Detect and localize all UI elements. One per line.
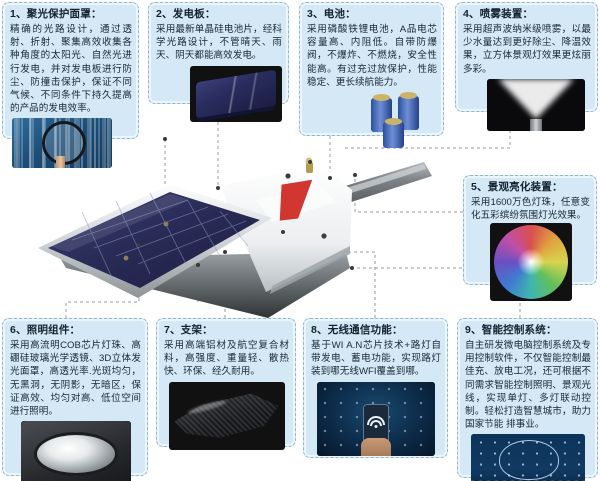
callout-dot-8 bbox=[281, 230, 285, 234]
callout-3-title: 3、电池： bbox=[307, 8, 437, 21]
callout-1-body: 精确的光路设计，通过透射、折射、聚集高效收集各种角度的太阳光、自然光进行发电，并… bbox=[10, 23, 132, 115]
callout-2-body: 采用最新单晶硅电池片，经科学光路设计，不管晴天、雨天、阴天都能高效发电。 bbox=[156, 23, 282, 63]
callout-4-body: 采用超声波纳米级喷雾，以最少水量达到更好除尘、降温效果，立方体景观灯效果更炫丽多… bbox=[463, 23, 591, 76]
callout-1-title: 1、聚光保护面罩： bbox=[10, 8, 132, 21]
callout-panel-7[interactable]: 7、支架： 采用高端铝材及航空复合材料，高强度、重量轻、散热快、环保、经久耐用。 bbox=[156, 318, 296, 447]
callout-dot-1 bbox=[163, 137, 167, 141]
callout-7-title: 7、支架： bbox=[164, 324, 289, 337]
callout-panel-1[interactable]: 1、聚光保护面罩： 精确的光路设计，通过透射、折射、聚集高效收集各种角度的太阳光… bbox=[2, 2, 139, 139]
callout-dot-6 bbox=[137, 243, 141, 247]
callout-panel-3[interactable]: 3、电池： 采用磷酸铁锂电池，A品电芯容量高、内阻低。自带防爆阀，不爆炸、不燃烧… bbox=[299, 2, 444, 136]
cob-led-module-image bbox=[21, 421, 131, 481]
lithium-battery-cells-image bbox=[367, 92, 429, 150]
callout-9-title: 9、智能控制系统： bbox=[465, 324, 591, 337]
callout-8-title: 8、无线通信功能： bbox=[311, 324, 441, 337]
callout-3-body: 采用磷酸铁锂电池，A品电芯容量高、内阻低。自带防爆阀，不爆炸、不燃烧，安全性能高… bbox=[307, 23, 437, 89]
magnifier-over-data-image bbox=[12, 118, 112, 168]
callout-panel-4[interactable]: 4、喷雾装置： 采用超声波纳米级喷雾，以最少水量达到更好除尘、降温效果，立方体景… bbox=[455, 2, 598, 112]
carbon-fiber-bracket-image bbox=[169, 382, 285, 450]
callout-5-title: 5、景观亮化装置： bbox=[471, 181, 590, 194]
solar-cell-image bbox=[190, 66, 282, 122]
infographic-canvas: 1、聚光保护面罩： 精确的光路设计，通过透射、折射、聚集高效收集各种角度的太阳光… bbox=[0, 0, 600, 481]
smart-city-brain-network-image bbox=[471, 434, 585, 481]
callout-dot-9 bbox=[196, 263, 200, 267]
mist-spray-nozzle-image bbox=[487, 79, 585, 131]
callout-4-title: 4、喷雾装置： bbox=[463, 8, 591, 21]
callout-panel-5[interactable]: 5、景观亮化装置： 采用1600万色灯珠，任意变化五彩缤纷氛围灯光效果。 bbox=[463, 175, 597, 285]
callout-panel-9[interactable]: 9、智能控制系统： 自主研发微电脑控制系统及专用控制软件，不仅智能控制最佳充、放… bbox=[457, 318, 598, 478]
callout-5-body: 采用1600万色灯珠，任意变化五彩缤纷氛围灯光效果。 bbox=[471, 196, 590, 222]
callout-panel-2[interactable]: 2、发电板： 采用最新单晶硅电池片，经科学光路设计，不管晴天、雨天、阴天都能高效… bbox=[148, 2, 289, 104]
callout-dot-3 bbox=[328, 176, 332, 180]
callout-7-body: 采用高端铝材及航空复合材料，高强度、重量轻、散热快、环保、经久耐用。 bbox=[164, 339, 289, 379]
callout-9-body: 自主研发微电脑控制系统及专用控制软件，不仅智能控制最佳充、放电工况，还可根据不同… bbox=[465, 339, 591, 431]
callout-dot-10 bbox=[350, 266, 354, 270]
callout-panel-8[interactable]: 8、无线通信功能： 基于WI A.N芯片技术+路灯自带发电、蓄电功能，实现路灯装… bbox=[303, 318, 448, 458]
callout-8-body: 基于WI A.N芯片技术+路灯自带发电、蓄电功能，实现路灯装到哪无线WFI覆盖到… bbox=[311, 339, 441, 379]
color-wheel-image bbox=[490, 223, 572, 301]
callout-dot-4 bbox=[308, 160, 312, 164]
callout-6-body: 采用高流明COB芯片灯珠、高硼硅玻璃光学透镜、3D立体发光面罩，高透光率.光斑均… bbox=[10, 339, 141, 418]
callout-panel-6[interactable]: 6、照明组件： 采用高流明COB芯片灯珠、高硼硅玻璃光学透镜、3D立体发光面罩，… bbox=[2, 318, 148, 476]
wifi-phone-world-map-image bbox=[317, 382, 435, 456]
callout-dot-5 bbox=[353, 173, 357, 177]
callout-2-title: 2、发电板： bbox=[156, 8, 282, 21]
callout-dot-2 bbox=[216, 186, 220, 190]
callout-6-title: 6、照明组件： bbox=[10, 324, 141, 337]
callout-dot-7 bbox=[223, 250, 227, 254]
